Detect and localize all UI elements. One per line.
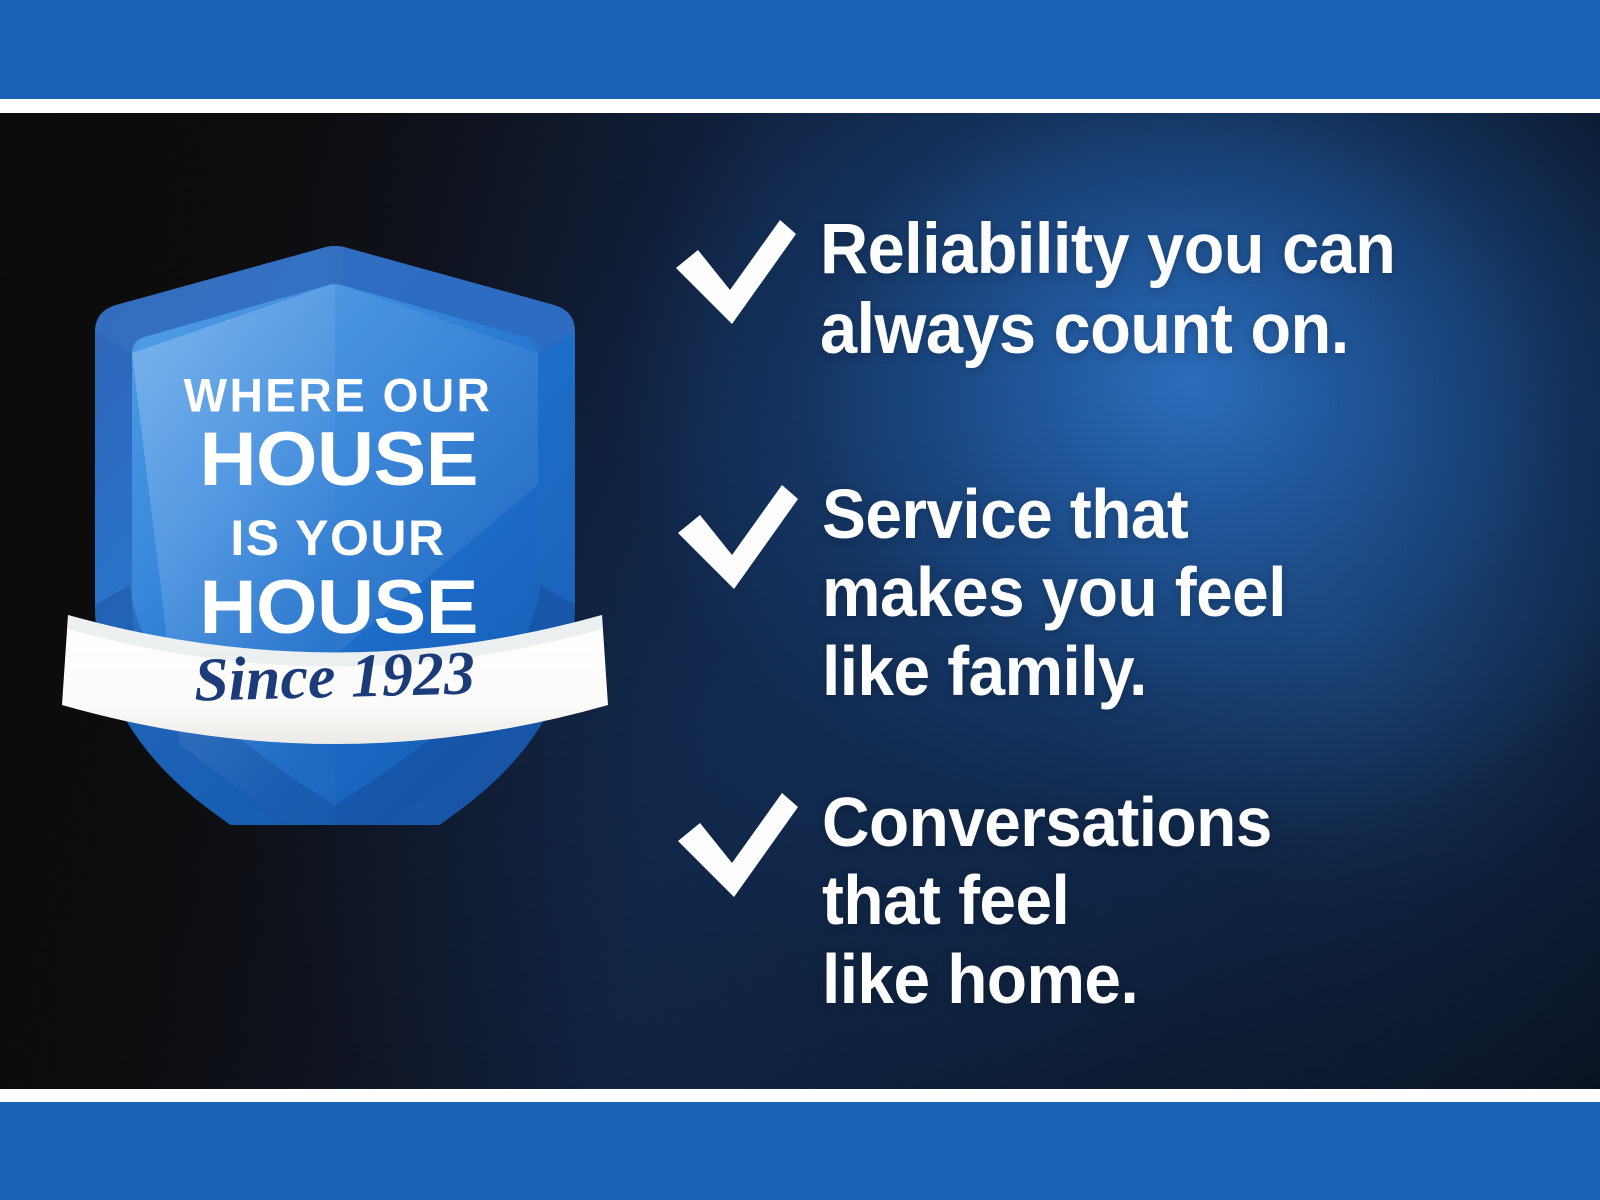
benefit-item: Service that makes you feel like family. — [672, 475, 1316, 710]
promo-graphic: WHERE OUR HOUSE IS YOUR HOUSE Since 1923… — [0, 0, 1600, 1200]
badge-line-4: HOUSE — [200, 565, 478, 649]
benefit-text: Reliability you can always count on. — [820, 210, 1395, 369]
badge-line-3: IS YOUR — [230, 510, 445, 566]
benefit-text: Service that makes you feel like family. — [822, 475, 1286, 710]
top-accent-bar — [0, 0, 1600, 99]
check-icon — [672, 481, 800, 593]
benefit-text: Conversations that feel like home. — [822, 783, 1272, 1018]
benefit-item: Reliability you can always count on. — [670, 210, 1432, 369]
check-icon — [670, 216, 798, 328]
badge-banner-text: Since 1923 — [193, 639, 475, 714]
badge-line-1: WHERE OUR — [184, 369, 493, 422]
benefit-item: Conversations that feel like home. — [672, 783, 1300, 1018]
check-icon — [672, 789, 800, 901]
shield-badge: WHERE OUR HOUSE IS YOUR HOUSE Since 1923 — [60, 185, 610, 825]
bottom-accent-bar — [0, 1102, 1600, 1200]
badge-line-2: HOUSE — [200, 417, 478, 501]
